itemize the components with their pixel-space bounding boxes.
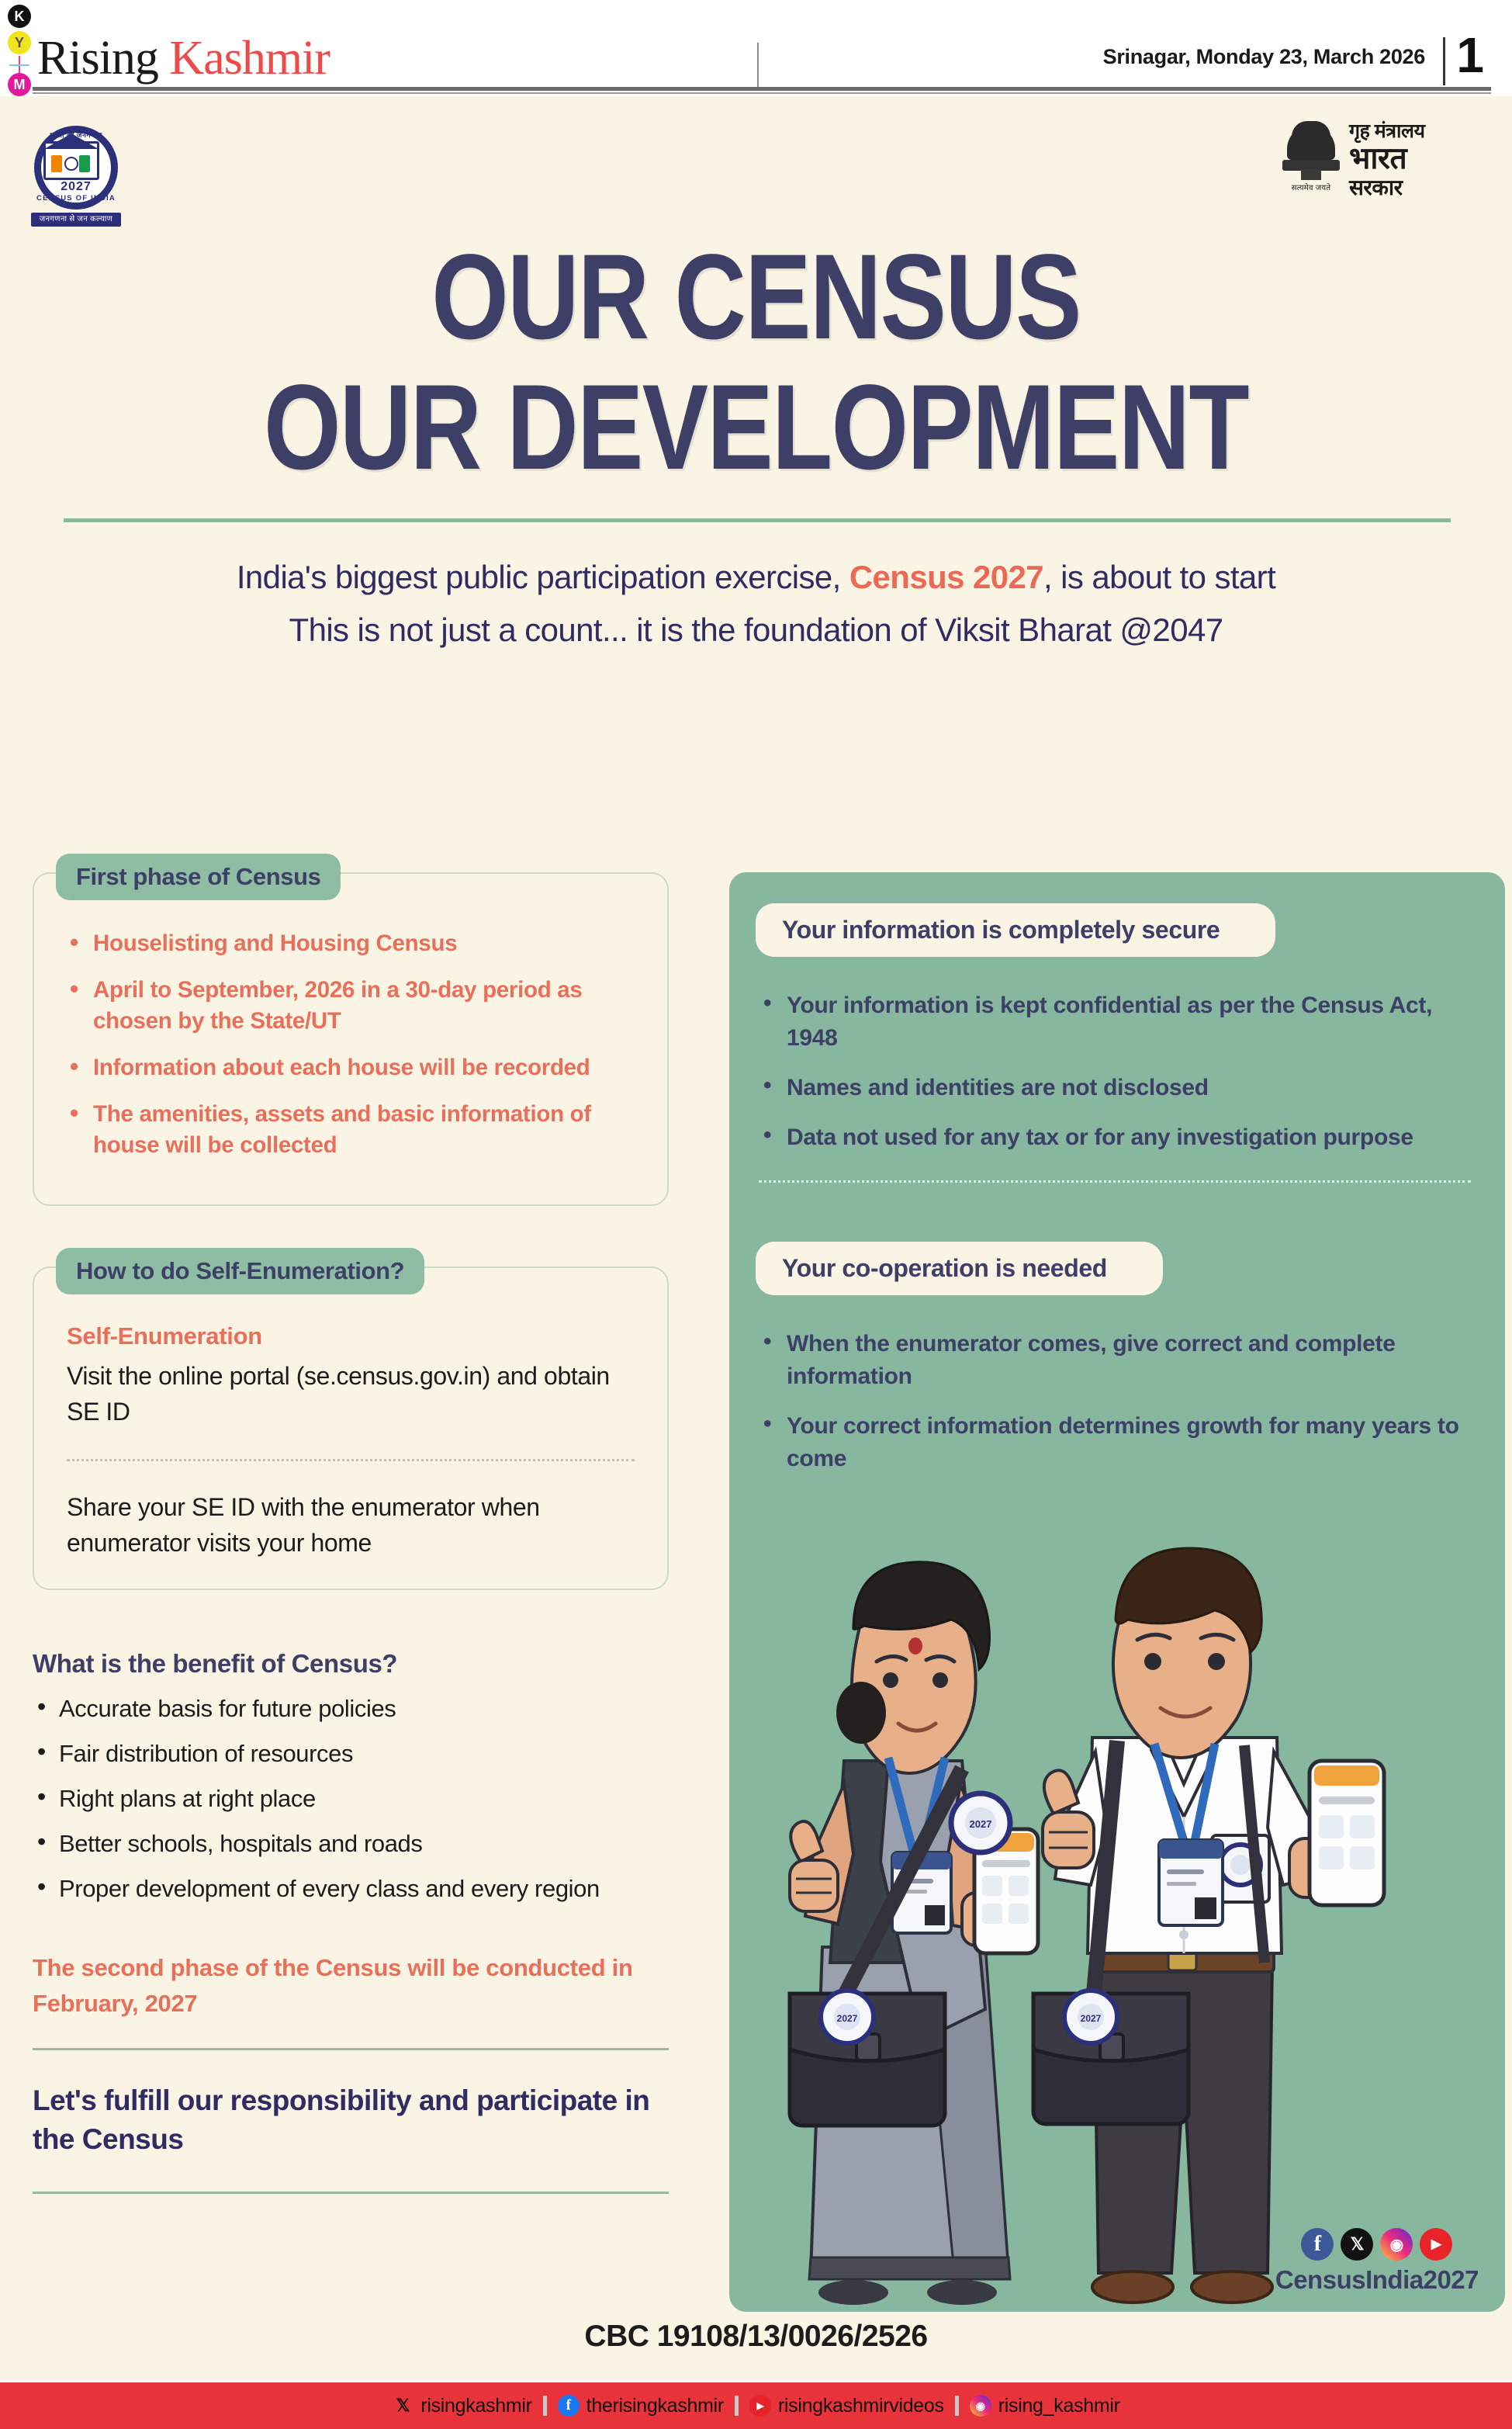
masthead-dateline: Srinagar, Monday 23, March 2026 (1103, 45, 1425, 69)
benefits-section: What is the benefit of Census? Accurate … (33, 1649, 669, 1905)
ashoka-emblem-icon: सत्यमेव जयते (1281, 121, 1341, 192)
list-item: When the enumerator comes, give correct … (759, 1328, 1462, 1393)
svg-text:2027: 2027 (1081, 2013, 1102, 2024)
green-flag-shape (79, 155, 90, 172)
closing-divider-bottom (33, 2192, 669, 2194)
headline-line-2: OUR DEVELOPMENT (136, 362, 1375, 493)
footer-handle-x[interactable]: 𝕏 risingkashmir (392, 2395, 531, 2417)
security-list: Your information is kept confidential as… (759, 989, 1462, 1154)
svg-text:2027: 2027 (837, 2013, 858, 2024)
first-phase-card: First phase of Census Houselisting and H… (33, 872, 669, 1206)
second-phase-note: The second phase of the Census will be c… (33, 1950, 669, 2022)
census-logo-year: 2027 (29, 180, 123, 194)
subtitle-line-2: This is not just a count... it is the fo… (0, 604, 1512, 657)
subtitle-line-1: India's biggest public participation exe… (0, 551, 1512, 604)
closing-divider-top (33, 2048, 669, 2050)
masthead-page-divider (1443, 37, 1445, 85)
footer-handle-label: risingkashmirvideos (778, 2395, 944, 2417)
self-enumeration-body: Visit the online portal (se.census.gov.i… (67, 1358, 635, 1429)
masthead-title-kashmir: Kashmir (169, 32, 330, 85)
list-item: Information about each house will be rec… (67, 1052, 635, 1083)
self-enumeration-body-2: Share your SE ID with the enumerator whe… (67, 1489, 635, 1561)
footer-handle-label: risingkashmir (420, 2395, 531, 2417)
masthead-rule-thin (33, 92, 1491, 94)
right-green-panel: Your information is completely secure Yo… (729, 872, 1505, 2312)
masthead-rule-thick (33, 87, 1491, 91)
bharat-line: भारत (1349, 143, 1483, 175)
cbc-code: CBC 19108/13/0026/2526 (0, 2320, 1512, 2354)
list-item: Better schools, hospitals and roads (33, 1828, 669, 1860)
emblem-pillar (1301, 169, 1321, 180)
census-bag-male: 2027 (1033, 1991, 1188, 2124)
ministry-line: गृह मंत्रालय (1349, 120, 1483, 143)
masthead-title: Rising Kashmir (37, 34, 330, 82)
headline-divider (64, 518, 1451, 522)
footer-handle-label: rising_kashmir (998, 2395, 1120, 2417)
registration-mark-magenta-icon: M (8, 73, 31, 96)
male-enumerator: 2027 (1033, 1548, 1384, 2303)
poster-headline: OUR CENSUS OUR DEVELOPMENT (0, 232, 1512, 493)
census-logo-house-icon (43, 135, 99, 183)
footer-separator (955, 2396, 959, 2416)
first-phase-tab: First phase of Census (56, 854, 341, 900)
registration-mark-black-icon: K (8, 5, 31, 28)
self-enumeration-card: How to do Self-Enumeration? Self-Enumera… (33, 1266, 669, 1590)
list-item: Names and identities are not disclosed (759, 1072, 1462, 1104)
security-tab: Your information is completely secure (756, 903, 1254, 957)
x-icon[interactable]: 𝕏 (1341, 2228, 1373, 2261)
census-logo-tagline: जनगणना से जन कल्याण (31, 213, 121, 227)
instagram-icon: ◉ (970, 2395, 991, 2417)
self-enumeration-tab: How to do Self-Enumeration? (56, 1248, 424, 1294)
facebook-icon[interactable]: f (1301, 2228, 1334, 2261)
youtube-icon: ▶ (749, 2395, 771, 2417)
first-phase-list: Houselisting and Housing Census April to… (67, 928, 635, 1161)
government-of-india-logo: सत्यमेव जयते गृह मंत्रालय भारत सरकार (1281, 120, 1483, 205)
census-social-block: f 𝕏 ◉ ▶ CensusIndia2027 (1275, 2228, 1479, 2295)
print-registration-marks: K Y M C (3, 5, 34, 88)
census-advertisement-poster: भारत की जनगणना 2027 CENSUS OF INDIA जनगण… (0, 96, 1512, 2381)
benefits-list: Accurate basis for future policies Fair … (33, 1693, 669, 1905)
footer-separator (543, 2396, 547, 2416)
cooperation-tab: Your co-operation is needed (756, 1242, 1141, 1295)
census-enumerators-illustration: 2027 2027 (729, 1528, 1505, 2312)
subtitle-before: India's biggest public participation exe… (237, 559, 849, 595)
footer-handle-youtube[interactable]: ▶ risingkashmirvideos (749, 2395, 944, 2417)
list-item: April to September, 2026 in a 30-day per… (67, 975, 635, 1037)
census-social-handle: CensusIndia2027 (1275, 2265, 1479, 2295)
emblem-motto: सत्यमेव जयते (1281, 182, 1341, 192)
roof-shape (44, 133, 99, 149)
list-item: The amenities, assets and basic informat… (67, 1099, 635, 1161)
census-logo-english: CENSUS OF INDIA (29, 194, 123, 203)
list-item: Houselisting and Housing Census (67, 928, 635, 959)
list-item: Accurate basis for future policies (33, 1693, 669, 1725)
footer-handle-instagram[interactable]: ◉ rising_kashmir (970, 2395, 1120, 2417)
x-icon: 𝕏 (392, 2395, 413, 2417)
left-content-column: First phase of Census Houselisting and H… (33, 872, 669, 2194)
facebook-icon: f (558, 2395, 580, 2417)
self-enumeration-divider (67, 1459, 635, 1461)
mobile-phone-male (1310, 1761, 1384, 1905)
list-item: Your information is kept confidential as… (759, 989, 1462, 1055)
ashoka-chakra-icon (64, 157, 78, 171)
benefits-heading: What is the benefit of Census? (33, 1649, 669, 1679)
cooperation-list: When the enumerator comes, give correct … (759, 1328, 1462, 1475)
list-item: Proper development of every class and ev… (33, 1873, 669, 1905)
masthead-title-rising: Rising (37, 32, 158, 85)
government-logo-text: गृह मंत्रालय भारत सरकार (1349, 120, 1483, 200)
headline-line-1: OUR CENSUS (136, 232, 1375, 362)
registration-mark-yellow-icon: Y (8, 31, 31, 54)
masthead-divider (757, 43, 759, 89)
list-item: Fair distribution of resources (33, 1738, 669, 1770)
page-number: 1 (1456, 29, 1484, 81)
self-enumeration-label: Self-Enumeration (67, 1322, 635, 1350)
poster-subtitle: India's biggest public participation exe… (0, 551, 1512, 657)
census-of-india-logo: भारत की जनगणना 2027 CENSUS OF INDIA जनगण… (29, 126, 123, 227)
social-icon-row: f 𝕏 ◉ ▶ (1275, 2228, 1479, 2261)
enumerators-svg: 2027 2027 (729, 1528, 1505, 2312)
svg-text:2027: 2027 (970, 1818, 992, 1830)
list-item: Data not used for any tax or for any inv… (759, 1121, 1462, 1154)
subtitle-highlight: Census 2027 (849, 559, 1043, 595)
instagram-icon[interactable]: ◉ (1380, 2228, 1413, 2261)
newspaper-masthead: K Y M C Rising Kashmir Srinagar, Monday … (0, 0, 1512, 93)
census-bag-female: 2027 (790, 1991, 945, 2126)
footer-handle-label: therisingkashmir (586, 2395, 724, 2417)
youtube-icon[interactable]: ▶ (1420, 2228, 1452, 2261)
registration-crosshair-icon (8, 56, 31, 74)
list-item: Right plans at right place (33, 1783, 669, 1815)
subtitle-after: , is about to start (1043, 559, 1275, 595)
newspaper-footer-bar: 𝕏 risingkashmir f therisingkashmir ▶ ris… (0, 2382, 1512, 2429)
closing-statement: Let's fulfill our responsibility and par… (33, 2081, 669, 2159)
sarkar-line: सरकार (1349, 175, 1483, 200)
footer-separator (735, 2396, 739, 2416)
female-enumerator: 2027 2027 (790, 1562, 1038, 2305)
saffron-flag-shape (51, 155, 62, 172)
footer-handle-facebook[interactable]: f therisingkashmir (558, 2395, 724, 2417)
list-item: Your correct information determines grow… (759, 1410, 1462, 1475)
